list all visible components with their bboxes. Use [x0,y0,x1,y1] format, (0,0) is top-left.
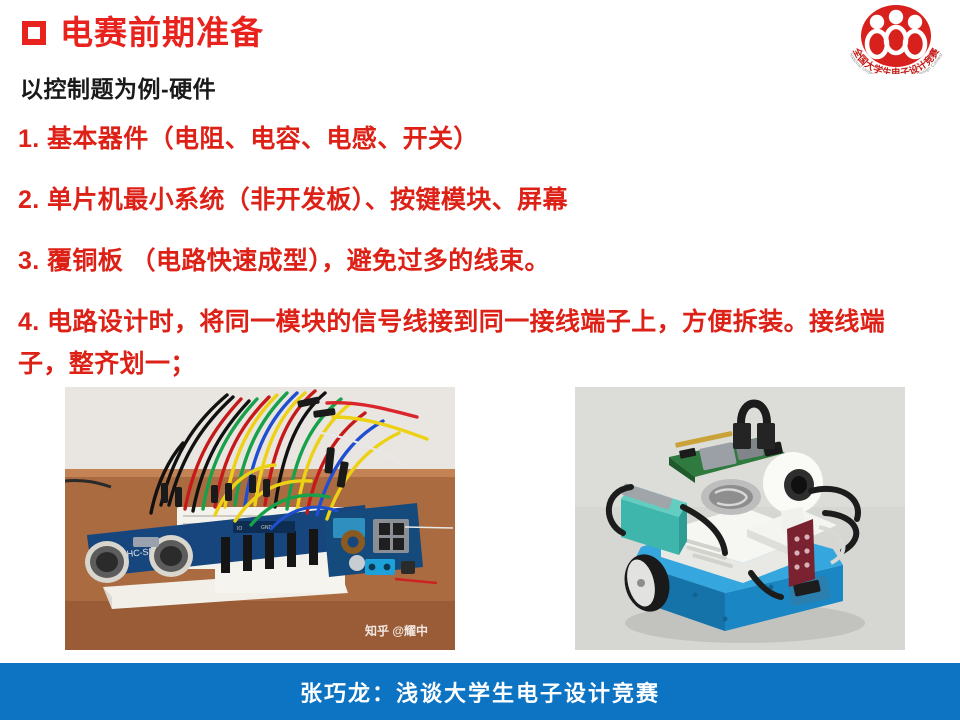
nuedc-logo: 全国大学生电子设计竞赛 National Undergraduate Elect… [840,2,952,74]
page-title: 电赛前期准备 [60,16,264,49]
footer-text: 张巧龙：浅谈大学生电子设计竞赛 [300,676,660,708]
content-list: 1. 基本器件（电阻、电容、电感、开关） 2. 单片机最小系统（非开发板）、按键… [18,118,948,404]
list-item: 3. 覆铜板 （电路快速成型），避免过多的线束。 [18,240,948,282]
list-item: 2. 单片机最小系统（非开发板）、按键模块、屏幕 [18,179,948,221]
page-subtitle: 以控制题为例-硬件 [20,70,216,104]
svg-text:IO: IO [237,526,242,532]
square-outline-icon [22,21,46,45]
photo-breadboard-hcsr04: HC-SR04 [65,387,455,650]
photo-robot-car [575,387,905,650]
list-item: 4. 电路设计时，将同一模块的信号线接到同一接线端子上，方便拆装。接线端 [18,301,948,343]
zhihu-watermark: 知乎 @耀中 [364,623,428,638]
list-item-continuation: 子，整齐划一； [18,343,948,385]
list-item: 1. 基本器件（电阻、电容、电感、开关） [18,118,948,160]
slide-header: 电赛前期准备 [22,16,264,49]
footer-banner: 张巧龙：浅谈大学生电子设计竞赛 [0,663,960,720]
slide-root: 电赛前期准备 以控制题为例-硬件 全国大学生电子设计竞赛 National [0,0,960,720]
